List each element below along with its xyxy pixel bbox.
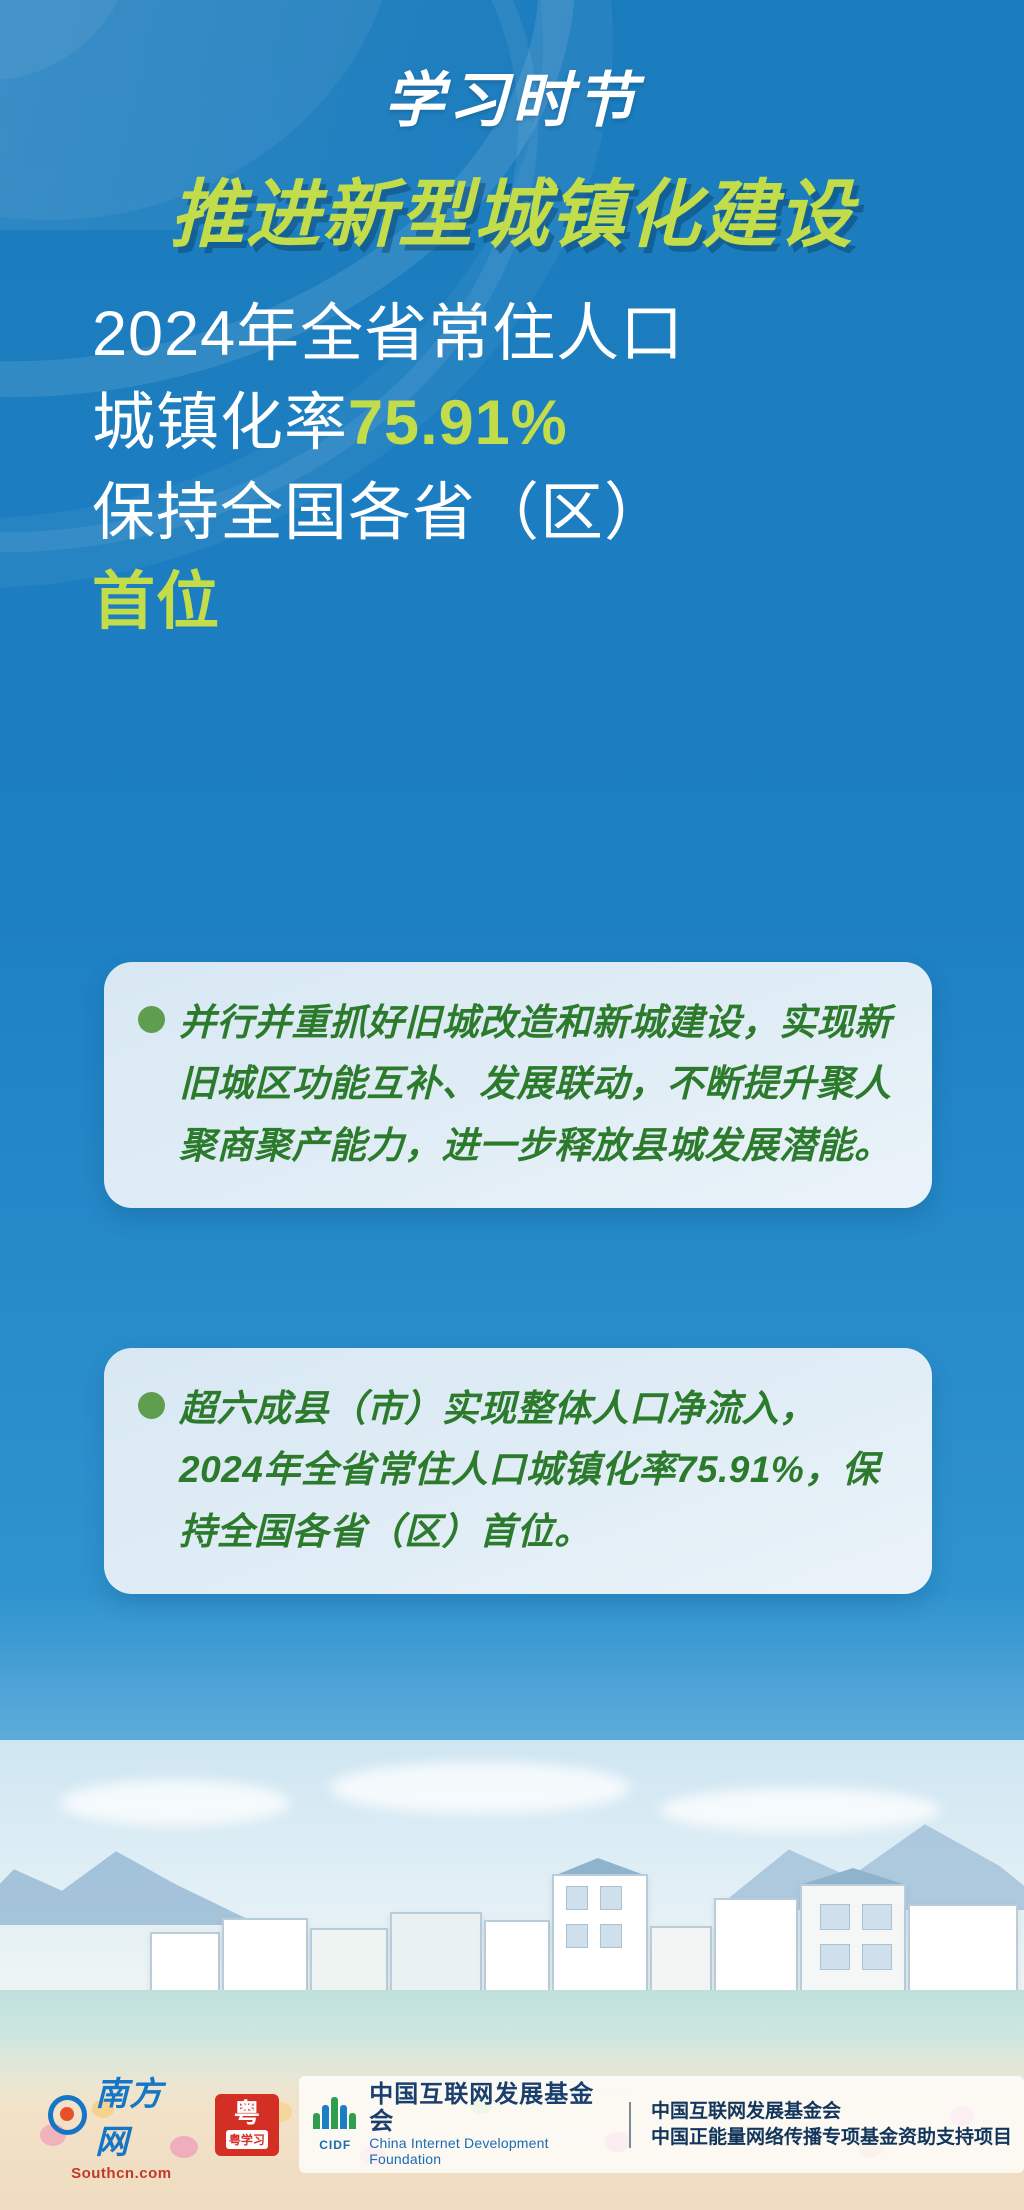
content-card-2: 超六成县（市）实现整体人口净流入，2024年全省常住人口城镇化率75.91%，保… — [104, 1348, 932, 1594]
fund-note-line-2: 中国正能量网络传播专项基金资助支持项目 — [651, 2125, 1012, 2151]
subtitle-line-2-prefix: 城镇化率 — [92, 388, 348, 458]
subtitle-line-2: 城镇化率75.91% — [92, 379, 942, 468]
southcn-logo-row: 南方网 — [48, 2067, 195, 2163]
subtitle-block: 2024年全省常住人口 城镇化率75.91% 保持全国各省（区） 首位 — [92, 290, 942, 648]
southcn-logo[interactable]: 南方网 Southcn.com — [48, 2067, 195, 2182]
page-title: 推进新型城镇化建设 — [0, 155, 1024, 262]
footer-logo-bar: 南方网 Southcn.com 粤 粤学习 CIDF 中国互联网发展基金会 — [0, 2067, 1024, 2182]
card-1-text: 并行并重抓好旧城改造和新城建设，实现新旧城区功能互补、发展联动，不断提升聚人聚商… — [179, 992, 894, 1176]
fund-note-line-1: 中国互联网发展基金会 — [651, 2099, 1012, 2125]
window — [862, 1904, 892, 1930]
cidf-abbreviation: CIDF — [319, 2138, 351, 2152]
southcn-name-cn: 南方网 — [95, 2067, 194, 2163]
yuexuexi-mark-icon: 粤 — [234, 2101, 260, 2127]
southcn-mark-icon — [48, 2095, 87, 2135]
cidf-name-cn: 中国互联网发展基金会 — [369, 2082, 609, 2135]
subtitle-line-4: 首位 — [92, 558, 942, 647]
window — [600, 1924, 622, 1948]
content-card-1: 并行并重抓好旧城改造和新城建设，实现新旧城区功能互补、发展联动，不断提升聚人聚商… — [104, 962, 932, 1208]
window — [820, 1904, 850, 1930]
window — [862, 1944, 892, 1970]
bullet-row: 并行并重抓好旧城改造和新城建设，实现新旧城区功能互补、发展联动，不断提升聚人聚商… — [138, 992, 894, 1176]
card-2-text: 超六成县（市）实现整体人口净流入，2024年全省常住人口城镇化率75.91%，保… — [179, 1378, 894, 1562]
footer-divider — [629, 2102, 631, 2148]
window — [820, 1944, 850, 1970]
subtitle-line-1: 2024年全省常住人口 — [92, 290, 942, 379]
urbanization-rate-value: 75.91% — [348, 388, 568, 458]
subtitle-line-3: 保持全国各省（区） — [92, 469, 942, 558]
brand-logo: 学习时节 — [0, 52, 1024, 139]
bullet-row: 超六成县（市）实现整体人口净流入，2024年全省常住人口城镇化率75.91%，保… — [138, 1378, 894, 1562]
bullet-dot-icon — [138, 1392, 165, 1419]
bullet-dot-icon — [138, 1006, 165, 1033]
cidf-logo-block[interactable]: CIDF 中国互联网发展基金会 China Internet Developme… — [299, 2076, 1024, 2173]
yuexuexi-logo[interactable]: 粤 粤学习 — [215, 2094, 280, 2156]
poster-root: 学习时节 推进新型城镇化建设 2024年全省常住人口 城镇化率75.91% 保持… — [0, 0, 1024, 2210]
cidf-name-en: China Internet Development Foundation — [369, 2135, 609, 2167]
cloud — [60, 1780, 290, 1826]
yuexuexi-label: 粤学习 — [226, 2130, 268, 2149]
southcn-name-en: Southcn.com — [71, 2165, 172, 2182]
cloud — [330, 1762, 630, 1814]
window — [566, 1924, 588, 1948]
window — [600, 1886, 622, 1910]
window — [566, 1886, 588, 1910]
cloud — [660, 1788, 940, 1832]
cidf-network-icon — [311, 2097, 359, 2137]
